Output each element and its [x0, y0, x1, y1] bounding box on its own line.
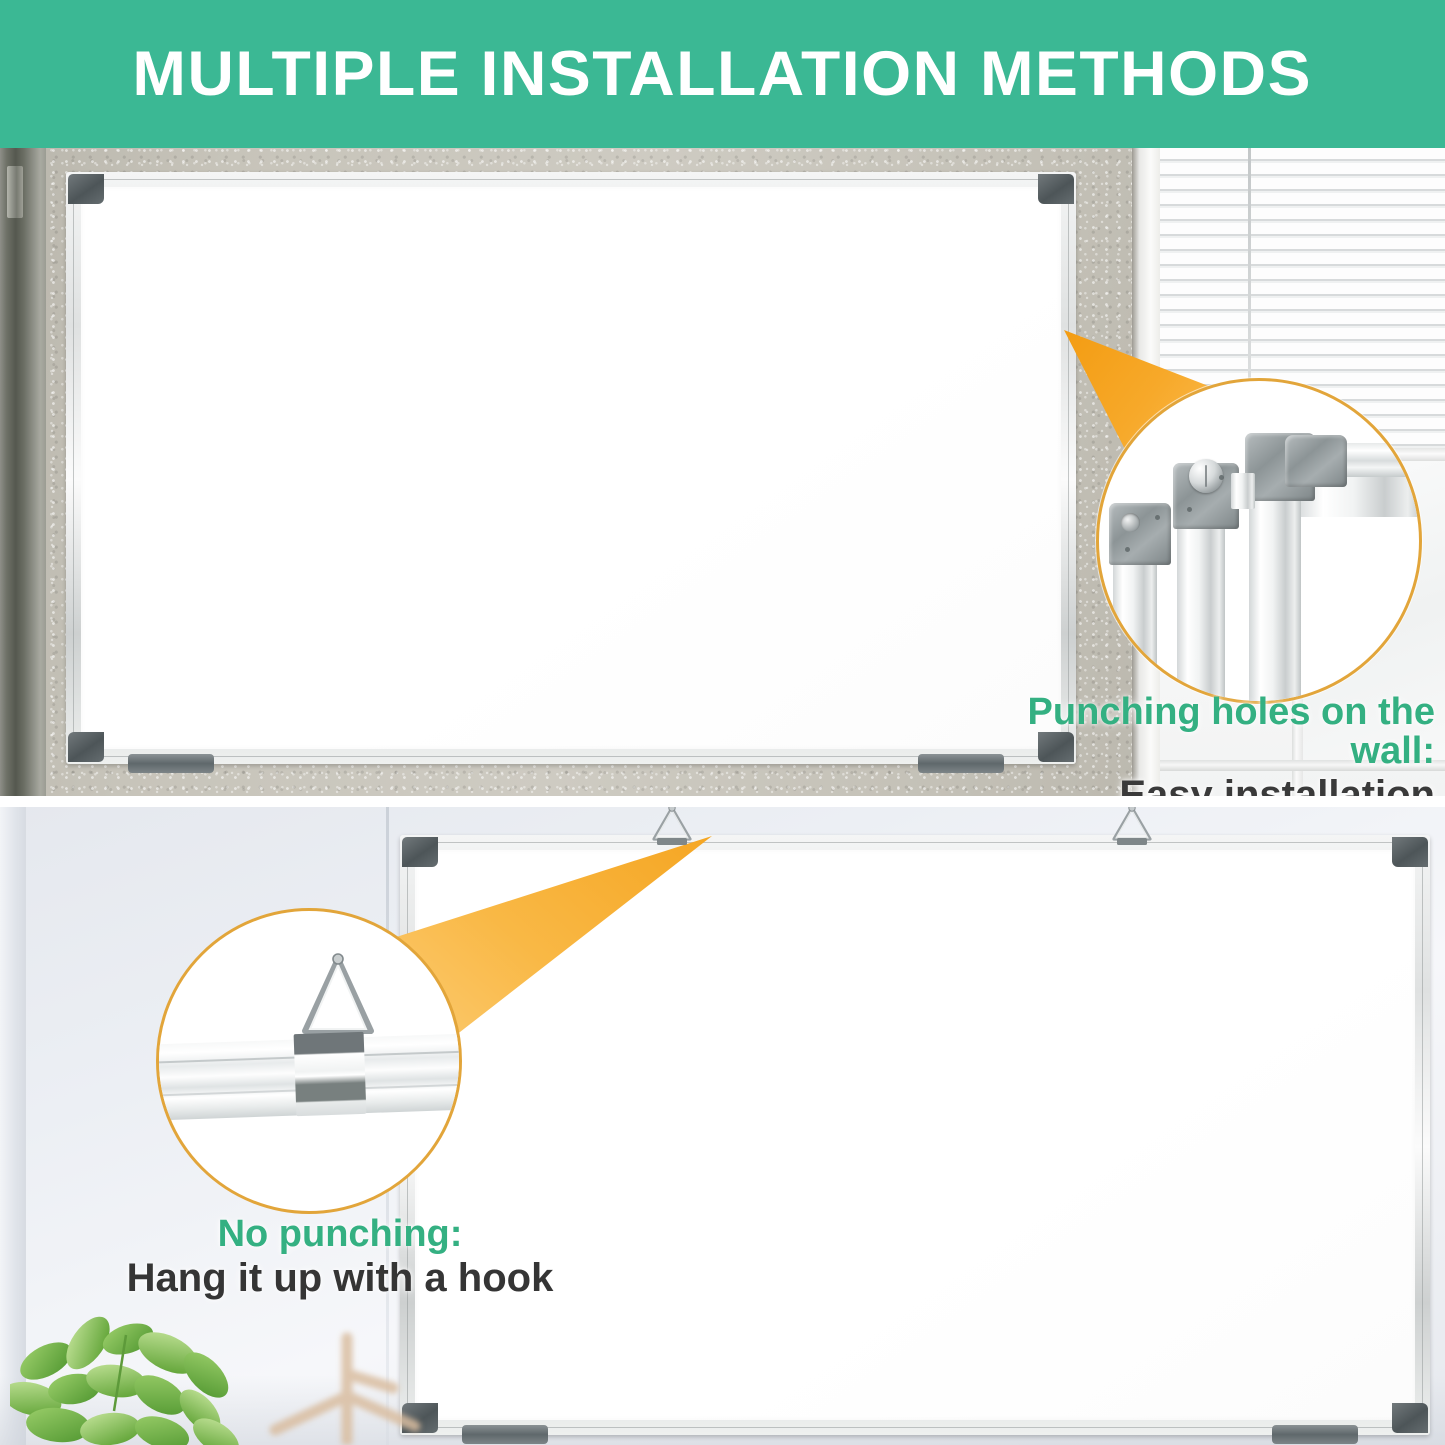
caption-body-no-punching: Hang it up with a hook — [60, 1257, 620, 1300]
screw-icon — [1189, 459, 1223, 493]
frame-inner-line — [407, 842, 1423, 1428]
pen-tray-clip-right — [1272, 1425, 1358, 1444]
header-banner: MULTIPLE INSTALLATION METHODS — [0, 0, 1445, 148]
infographic-page: MULTIPLE INSTALLATION METHODS — [0, 0, 1445, 1445]
pen-tray-clip-right — [918, 754, 1004, 773]
triangle-hook-icon-closeup — [297, 951, 379, 1039]
page-title: MULTIPLE INSTALLATION METHODS — [133, 38, 1313, 110]
caption-no-punching: No punching: Hang it up with a hook — [60, 1215, 620, 1300]
magnifier-circle-brackets — [1096, 378, 1422, 704]
door-frame-left — [0, 148, 46, 796]
corner-cap-top-right — [1038, 174, 1074, 204]
magnifier-circle-hook — [156, 908, 462, 1214]
whiteboard-bottom — [400, 835, 1430, 1435]
caption-punching: Punching holes on the wall: Easy install… — [1010, 693, 1435, 796]
hanger-clip-closeup — [294, 1032, 367, 1116]
caption-heading-punching: Punching holes on the wall: — [1010, 693, 1435, 771]
coat-rack-icon — [255, 1330, 435, 1445]
corner-cap-top-right — [1392, 837, 1428, 867]
corner-cap-top-left — [68, 174, 104, 204]
potted-plant-icon — [10, 1315, 280, 1445]
pen-tray-clip-left — [128, 754, 214, 773]
frame-inner-line — [73, 179, 1069, 757]
panel-divider — [0, 796, 1445, 807]
corner-cap-bottom-left — [68, 732, 104, 762]
corner-cap-top-left — [402, 837, 438, 867]
door-hinge-icon — [7, 166, 23, 218]
pen-tray-clip-left — [462, 1425, 548, 1444]
panel-punching-holes: Punching holes on the wall: Easy install… — [0, 148, 1445, 796]
caption-heading-no-punching: No punching: — [60, 1215, 620, 1255]
triangle-hook-icon-left — [645, 807, 699, 845]
whiteboard-top — [66, 172, 1076, 764]
corner-cap-bottom-right — [1392, 1403, 1428, 1433]
triangle-hook-icon-right — [1105, 807, 1159, 845]
caption-body-line1-punching: Easy installation — [1010, 774, 1435, 797]
